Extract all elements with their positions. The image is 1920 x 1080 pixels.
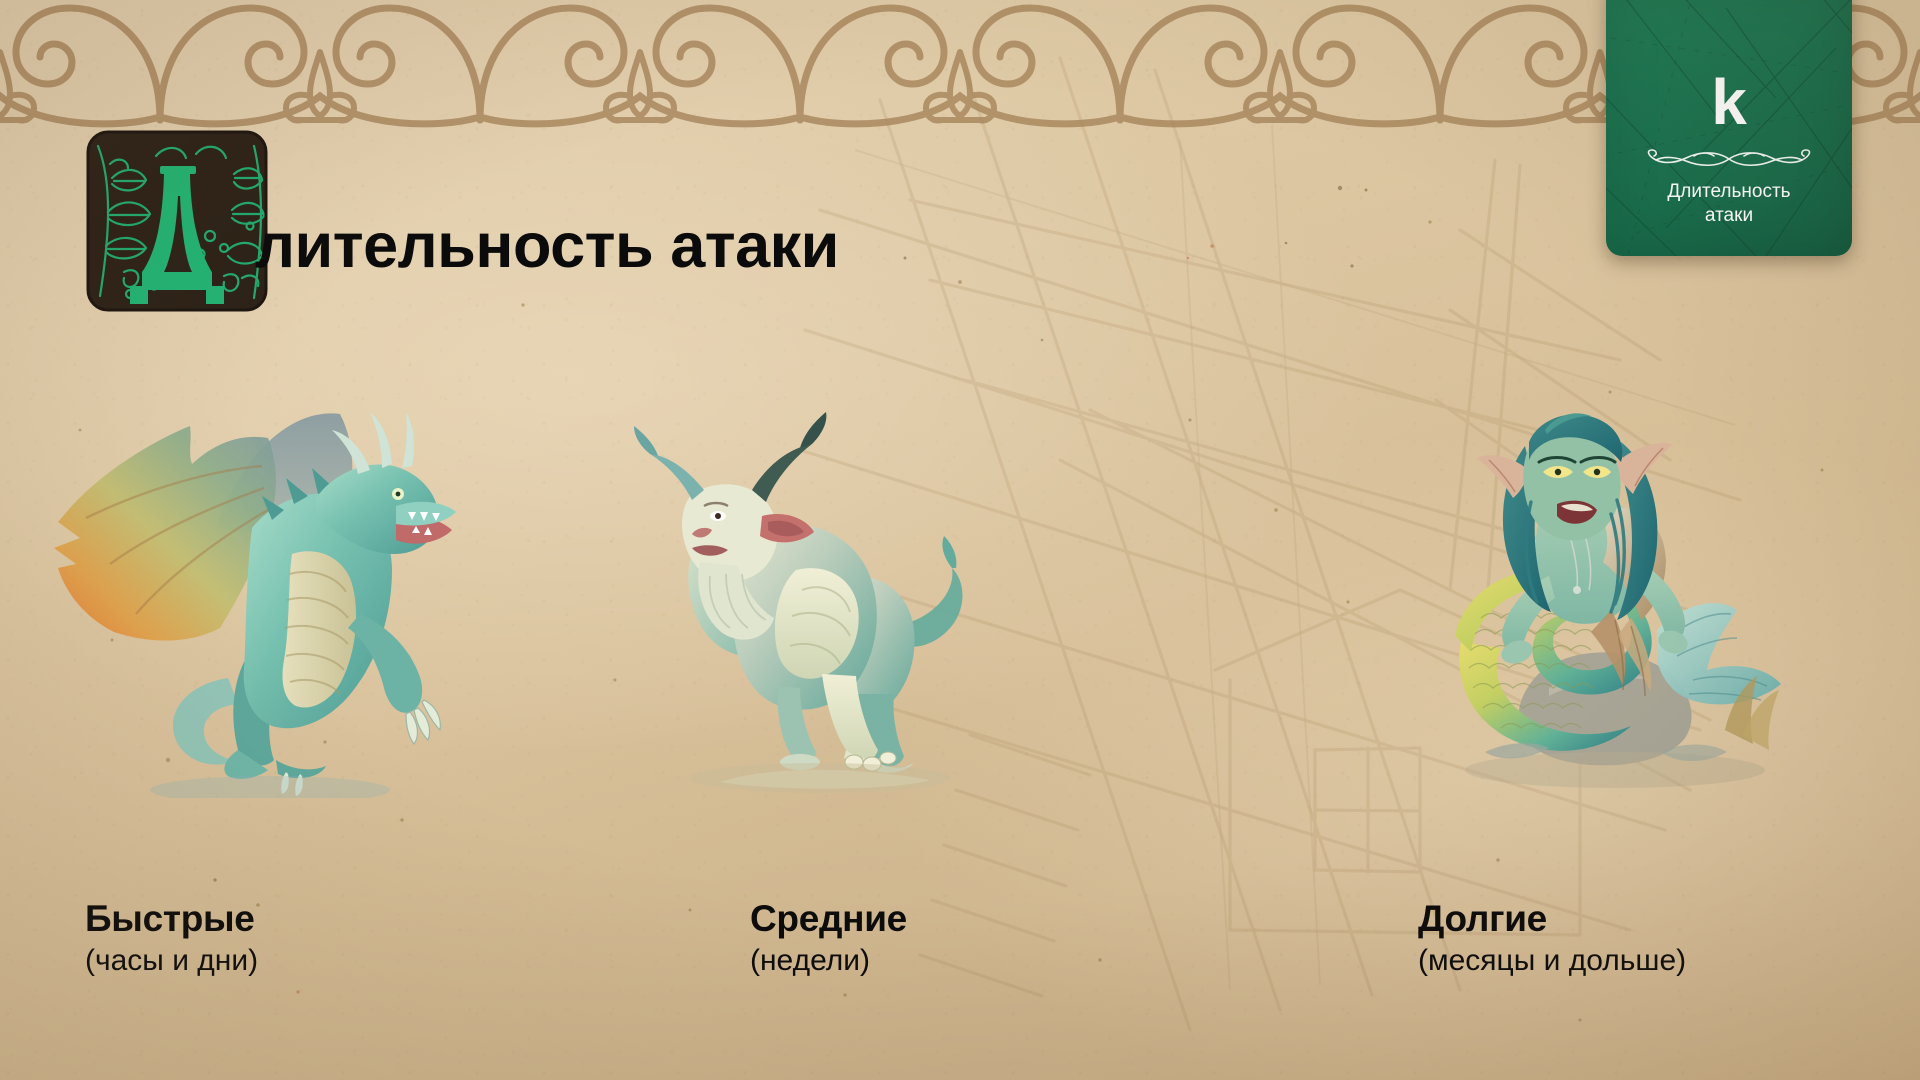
column-caption-medium: Средние (недели) bbox=[750, 898, 907, 979]
horned-beast-illustration bbox=[600, 398, 1000, 798]
caption-subtitle-fast: (часы и дни) bbox=[85, 943, 258, 979]
dragon-illustration bbox=[40, 378, 460, 798]
flourish-divider-icon bbox=[1634, 148, 1824, 170]
page-title-text: лительность атаки bbox=[255, 210, 839, 282]
mermaid-artwork bbox=[1425, 380, 1805, 800]
dropcap-initial bbox=[84, 126, 270, 312]
page-title: лительность атаки bbox=[255, 196, 839, 296]
dropcap-artwork bbox=[84, 126, 270, 312]
brand-caption-line-2: атаки bbox=[1705, 205, 1753, 226]
caption-title-medium: Средние bbox=[750, 898, 907, 939]
column-caption-fast: Быстрые (часы и дни) bbox=[85, 898, 258, 979]
brand-card-caption: Длительность атаки bbox=[1624, 180, 1834, 229]
slide-canvas: лительность атаки k bbox=[0, 0, 1920, 1080]
horned-beast-artwork bbox=[600, 398, 1000, 798]
caption-subtitle-medium: (недели) bbox=[750, 943, 907, 979]
caption-subtitle-slow: (месяцы и дольше) bbox=[1418, 943, 1686, 979]
brand-caption-line-1: Длительность bbox=[1667, 181, 1790, 202]
column-caption-slow: Долгие (месяцы и дольше) bbox=[1418, 898, 1686, 979]
brand-card[interactable]: k Длительность атаки bbox=[1606, 0, 1852, 256]
brand-logo-k: k bbox=[1711, 70, 1747, 134]
mermaid-illustration bbox=[1425, 380, 1805, 800]
caption-title-fast: Быстрые bbox=[85, 898, 258, 939]
dragon-artwork bbox=[40, 378, 460, 798]
caption-title-slow: Долгие bbox=[1418, 898, 1686, 939]
